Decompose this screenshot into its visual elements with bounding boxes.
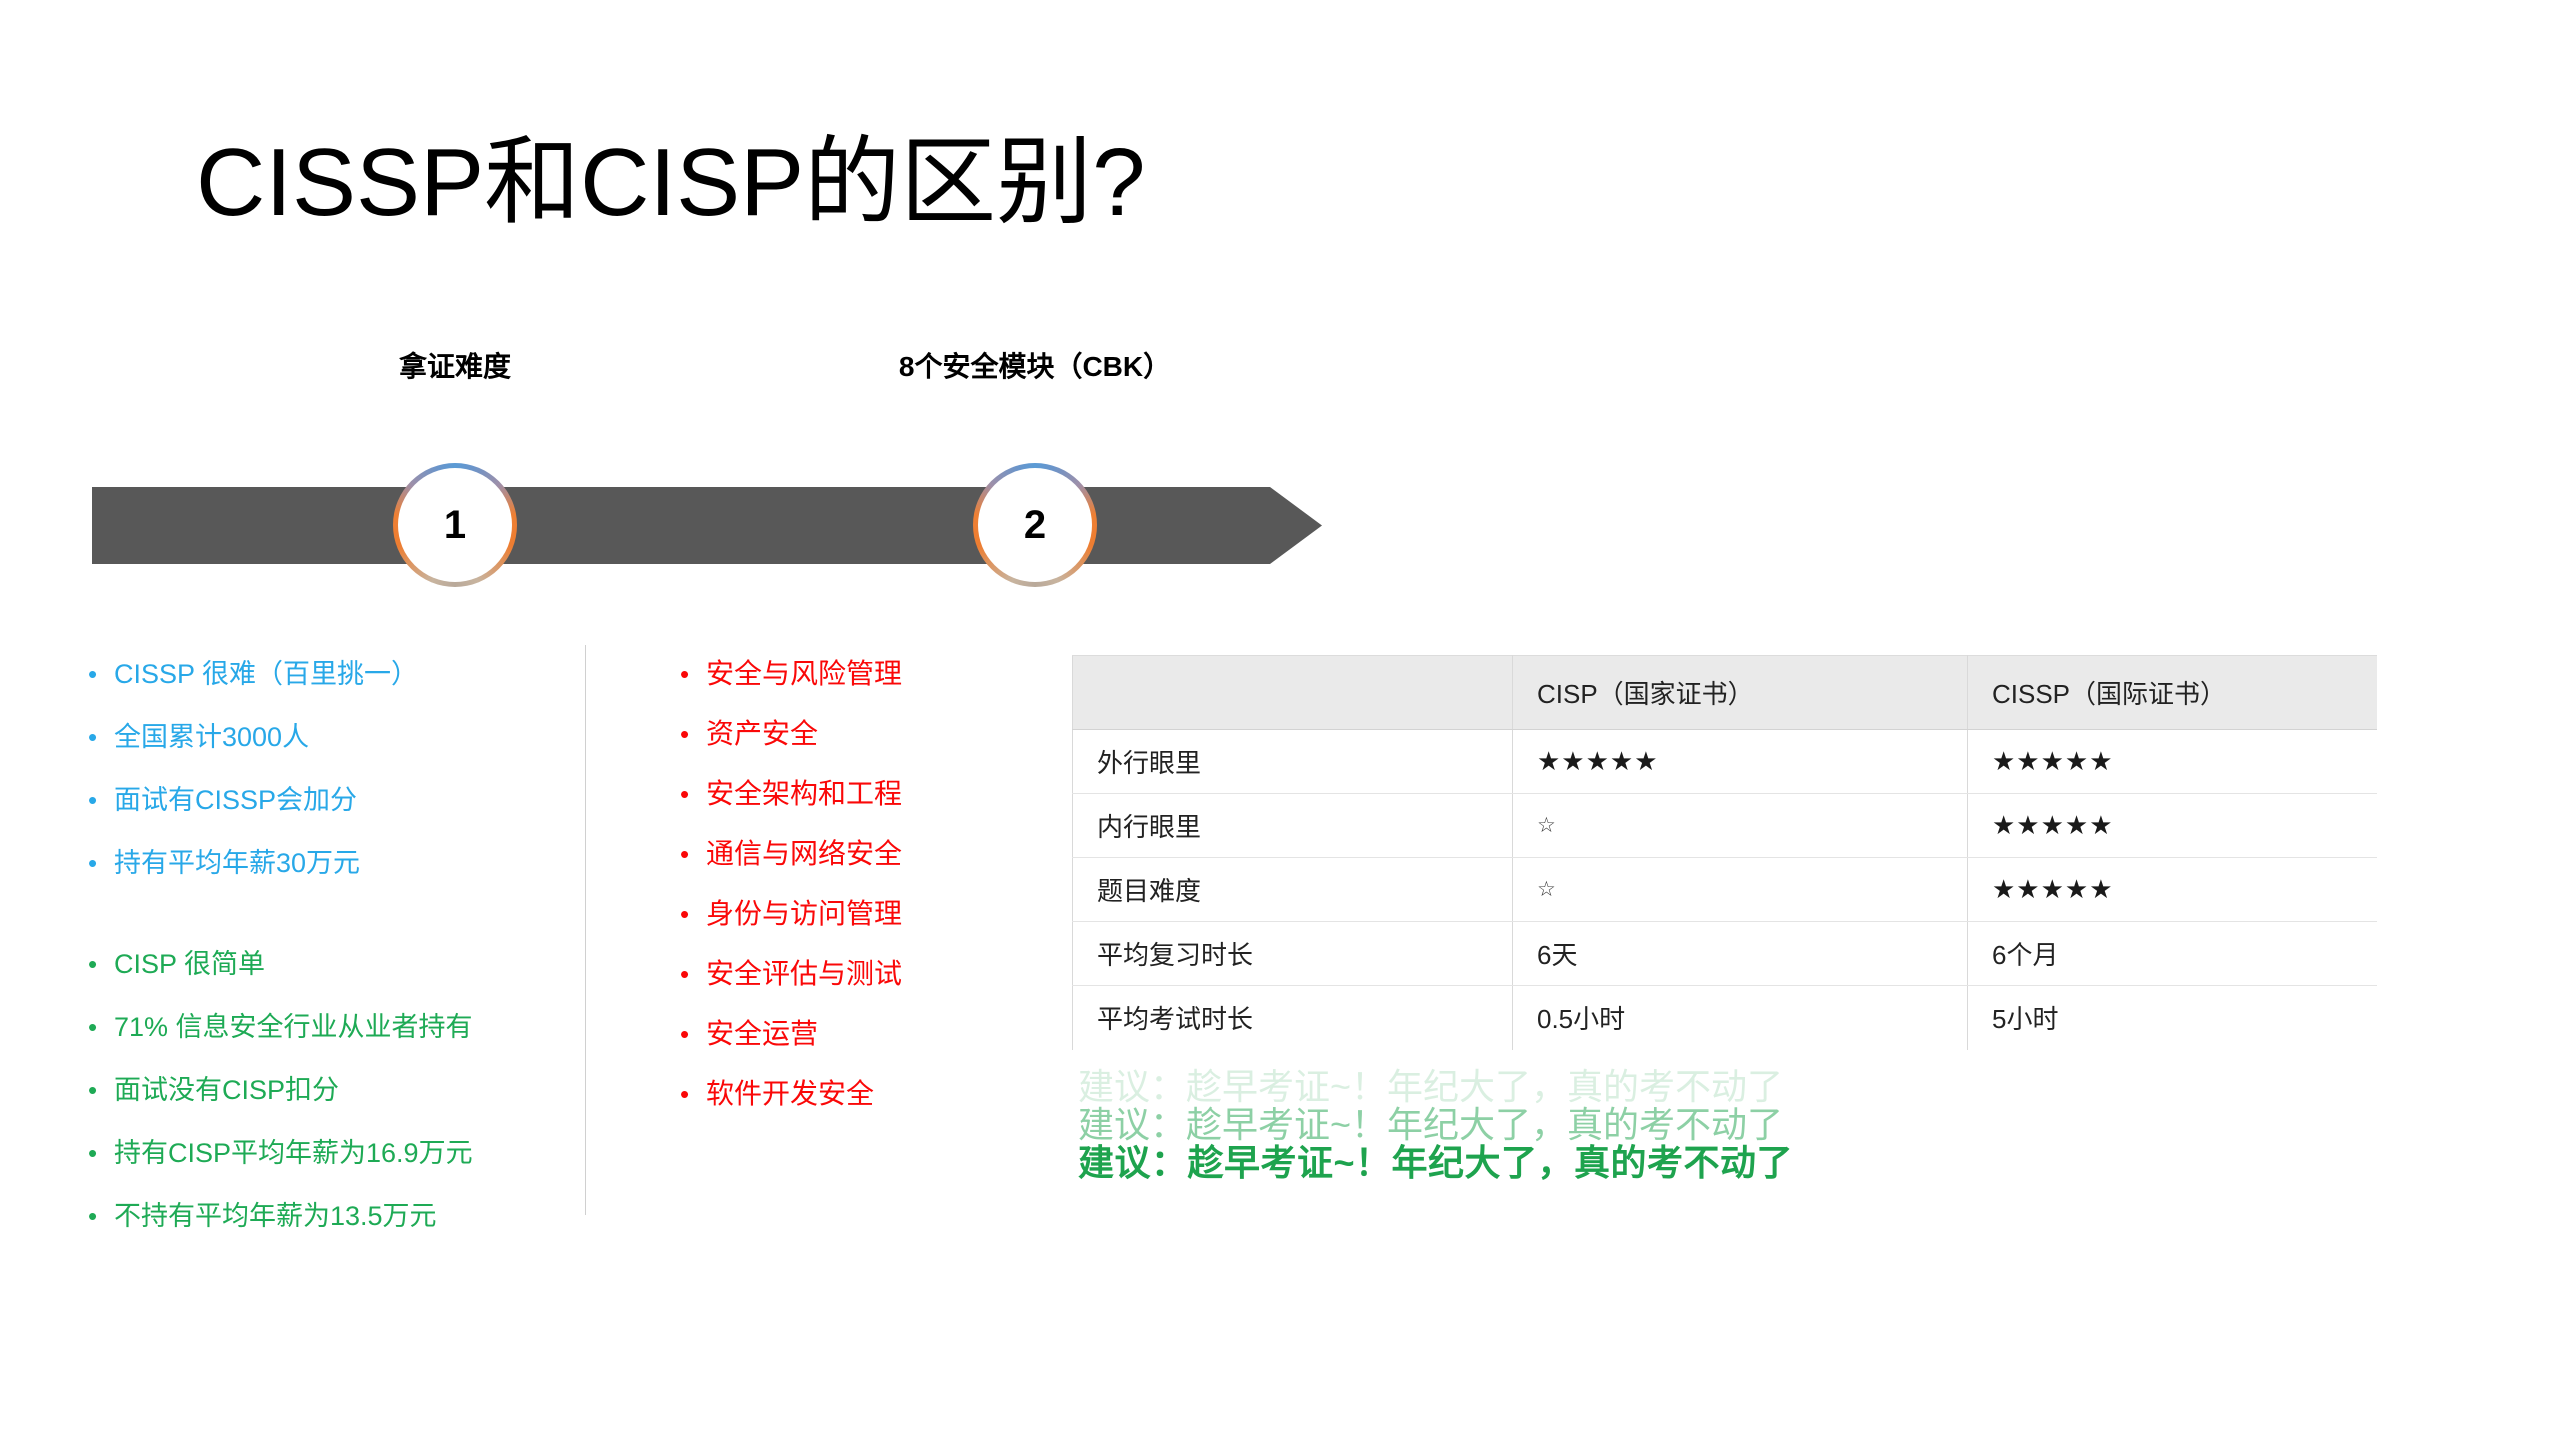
step-circle-1[interactable]: 1 bbox=[393, 463, 517, 587]
list-item-label: 持有平均年薪30万元 bbox=[114, 841, 360, 880]
table-cell-cisp-rating: ★★★★★ bbox=[1513, 730, 1968, 794]
list-item-label: 软件开发安全 bbox=[706, 1072, 874, 1112]
table-cell-label: 题目难度 bbox=[1073, 858, 1513, 922]
bullet-dot-icon: • bbox=[680, 841, 706, 867]
section-heading-cbk-modules: 8个安全模块（CBK） bbox=[899, 345, 1171, 385]
list-item: • 安全架构和工程 bbox=[680, 772, 902, 812]
table-cell-cissp-rating: ★★★★★ bbox=[1968, 794, 2377, 858]
list-item: • 全国累计3000人 bbox=[88, 715, 418, 754]
cisp-facts-list: • CISP 很简单 • 71% 信息安全行业从业者持有 • 面试没有CISP扣… bbox=[88, 942, 473, 1257]
list-item-label: 资产安全 bbox=[706, 712, 818, 752]
step-number-label: 1 bbox=[444, 505, 466, 545]
arrow-shape-icon bbox=[92, 487, 1322, 564]
section-heading-difficulty: 拿证难度 bbox=[399, 345, 511, 385]
list-item: • 持有CISP平均年薪为16.9万元 bbox=[88, 1131, 473, 1170]
bullet-dot-icon: • bbox=[88, 850, 114, 876]
step-circle-2[interactable]: 2 bbox=[973, 463, 1097, 587]
list-item-label: 安全与风险管理 bbox=[706, 652, 902, 692]
table-row: 平均考试时长 0.5小时 5小时 bbox=[1073, 986, 2377, 1050]
list-item: • 安全评估与测试 bbox=[680, 952, 902, 992]
list-item-label: CISSP 很难（百里挑一） bbox=[114, 652, 418, 691]
table-cell-cissp-rating: ★★★★★ bbox=[1968, 730, 2377, 794]
bullet-dot-icon: • bbox=[88, 1140, 114, 1166]
list-item: • 71% 信息安全行业从业者持有 bbox=[88, 1005, 473, 1044]
list-item: • 面试没有CISP扣分 bbox=[88, 1068, 473, 1107]
list-item-label: 面试有CISSP会加分 bbox=[114, 778, 357, 817]
list-item: • 资产安全 bbox=[680, 712, 902, 752]
list-item-label: 安全评估与测试 bbox=[706, 952, 902, 992]
table-header-cell-blank bbox=[1073, 656, 1513, 730]
table-row: 平均复习时长 6天 6个月 bbox=[1073, 922, 2377, 986]
advice-line-solid: 建议：趁早考证~！年纪大了，真的考不动了 bbox=[1078, 1144, 1793, 1182]
table-row: 题目难度 ☆ ★★★★★ bbox=[1073, 858, 2377, 922]
list-item-label: 安全架构和工程 bbox=[706, 772, 902, 812]
list-item-label: 不持有平均年薪为13.5万元 bbox=[114, 1194, 437, 1233]
advice-stack: 建议：趁早考证~！年纪大了，真的考不动了 建议：趁早考证~！年纪大了，真的考不动… bbox=[1078, 1068, 1793, 1182]
list-item-label: 安全运营 bbox=[706, 1012, 818, 1052]
list-item: • 面试有CISSP会加分 bbox=[88, 778, 418, 817]
list-item-label: CISP 很简单 bbox=[114, 942, 265, 981]
table-cell-cisp-value: 6天 bbox=[1513, 922, 1968, 986]
bullet-dot-icon: • bbox=[680, 721, 706, 747]
table-header-cell-cissp: CISSP（国际证书） bbox=[1968, 656, 2377, 730]
cissp-facts-list: • CISSP 很难（百里挑一） • 全国累计3000人 • 面试有CISSP会… bbox=[88, 652, 418, 904]
list-item-label: 身份与访问管理 bbox=[706, 892, 902, 932]
bullet-dot-icon: • bbox=[680, 901, 706, 927]
bullet-dot-icon: • bbox=[88, 724, 114, 750]
bullet-dot-icon: • bbox=[680, 661, 706, 687]
table-cell-cissp-rating: ★★★★★ bbox=[1968, 858, 2377, 922]
process-arrow bbox=[92, 487, 1322, 564]
table-row: 内行眼里 ☆ ★★★★★ bbox=[1073, 794, 2377, 858]
column-divider bbox=[585, 645, 586, 1215]
list-item: • CISP 很简单 bbox=[88, 942, 473, 981]
table-cell-cisp-value: 0.5小时 bbox=[1513, 986, 1968, 1050]
list-item-label: 持有CISP平均年薪为16.9万元 bbox=[114, 1131, 473, 1170]
table-cell-label: 内行眼里 bbox=[1073, 794, 1513, 858]
bullet-dot-icon: • bbox=[680, 781, 706, 807]
bullet-dot-icon: • bbox=[88, 1077, 114, 1103]
table-cell-label: 外行眼里 bbox=[1073, 730, 1513, 794]
table-cell-cisp-rating: ☆ bbox=[1513, 794, 1968, 858]
table-header-cell-cisp: CISP（国家证书） bbox=[1513, 656, 1968, 730]
list-item: • 持有平均年薪30万元 bbox=[88, 841, 418, 880]
advice-line-faint: 建议：趁早考证~！年纪大了，真的考不动了 bbox=[1078, 1068, 1793, 1106]
list-item: • 软件开发安全 bbox=[680, 1072, 902, 1112]
list-item: • 通信与网络安全 bbox=[680, 832, 902, 872]
list-item: • 不持有平均年薪为13.5万元 bbox=[88, 1194, 473, 1233]
table-row: 外行眼里 ★★★★★ ★★★★★ bbox=[1073, 730, 2377, 794]
table-cell-label: 平均考试时长 bbox=[1073, 986, 1513, 1050]
list-item: • CISSP 很难（百里挑一） bbox=[88, 652, 418, 691]
list-item: • 安全与风险管理 bbox=[680, 652, 902, 692]
cbk-modules-list: • 安全与风险管理 • 资产安全 • 安全架构和工程 • 通信与网络安全 • 身… bbox=[680, 652, 902, 1132]
bullet-dot-icon: • bbox=[88, 787, 114, 813]
table-cell-cissp-value: 6个月 bbox=[1968, 922, 2377, 986]
table-cell-cissp-value: 5小时 bbox=[1968, 986, 2377, 1050]
list-item-label: 71% 信息安全行业从业者持有 bbox=[114, 1005, 473, 1044]
bullet-dot-icon: • bbox=[88, 661, 114, 687]
table-cell-cisp-rating: ☆ bbox=[1513, 858, 1968, 922]
list-item-label: 面试没有CISP扣分 bbox=[114, 1068, 339, 1107]
list-item-label: 全国累计3000人 bbox=[114, 715, 309, 754]
step-number-label: 2 bbox=[1024, 505, 1046, 545]
bullet-dot-icon: • bbox=[680, 961, 706, 987]
list-item: • 安全运营 bbox=[680, 1012, 902, 1052]
list-item-label: 通信与网络安全 bbox=[706, 832, 902, 872]
table-header-row: CISP（国家证书） CISSP（国际证书） bbox=[1073, 656, 2377, 730]
bullet-dot-icon: • bbox=[88, 1203, 114, 1229]
advice-line-medium: 建议：趁早考证~！年纪大了，真的考不动了 bbox=[1078, 1106, 1793, 1144]
table-cell-label: 平均复习时长 bbox=[1073, 922, 1513, 986]
bullet-dot-icon: • bbox=[88, 1014, 114, 1040]
page-title: CISSP和CISP的区别? bbox=[196, 126, 1146, 239]
comparison-table: CISP（国家证书） CISSP（国际证书） 外行眼里 ★★★★★ ★★★★★ … bbox=[1072, 655, 2377, 1050]
bullet-dot-icon: • bbox=[680, 1021, 706, 1047]
bullet-dot-icon: • bbox=[88, 951, 114, 977]
list-item: • 身份与访问管理 bbox=[680, 892, 902, 932]
bullet-dot-icon: • bbox=[680, 1081, 706, 1107]
